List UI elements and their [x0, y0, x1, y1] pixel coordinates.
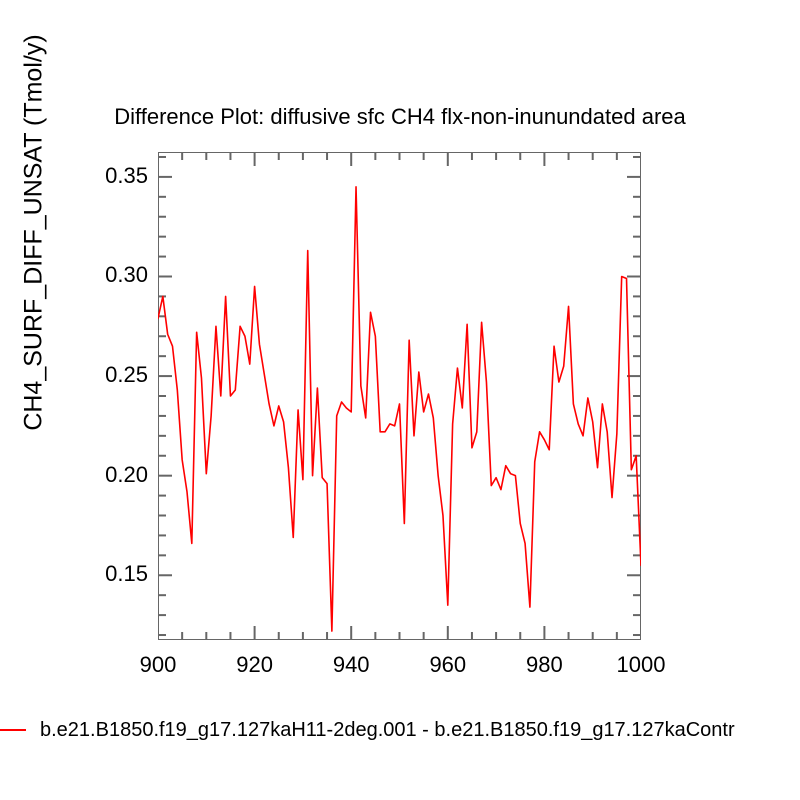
line-chart-svg: [158, 152, 641, 640]
y-axis-label: CH4_SURF_DIFF_UNSAT (Tmol/y): [20, 0, 49, 533]
x-axis-tick-label: 920: [210, 652, 300, 678]
y-axis-tick-label: 0.20: [68, 462, 148, 488]
y-axis-tick-label: 0.30: [68, 262, 148, 288]
y-axis-tick-label: 0.25: [68, 362, 148, 388]
y-axis-tick-labels: 0.150.200.250.300.35: [58, 152, 148, 640]
x-axis-tick-label: 900: [113, 652, 203, 678]
legend-line-swatch: [0, 729, 26, 731]
data-series-line: [158, 187, 641, 631]
chart-page: Difference Plot: diffusive sfc CH4 flx-n…: [0, 0, 800, 800]
x-axis-tick-label: 940: [306, 652, 396, 678]
legend: b.e21.B1850.f19_g17.127kaH11-2deg.001 - …: [0, 713, 800, 747]
x-axis-tick-label: 1000: [596, 652, 686, 678]
y-axis-tick-label: 0.35: [68, 163, 148, 189]
legend-item-label: b.e21.B1850.f19_g17.127kaH11-2deg.001 - …: [40, 719, 735, 742]
y-axis-tick-label: 0.15: [68, 561, 148, 587]
x-axis-tick-label: 980: [499, 652, 589, 678]
x-axis-tick-labels: 9009209409609801000: [158, 652, 641, 682]
page-title: Difference Plot: diffusive sfc CH4 flx-n…: [0, 104, 800, 130]
plot-area: [158, 152, 641, 640]
x-axis-tick-label: 960: [403, 652, 493, 678]
